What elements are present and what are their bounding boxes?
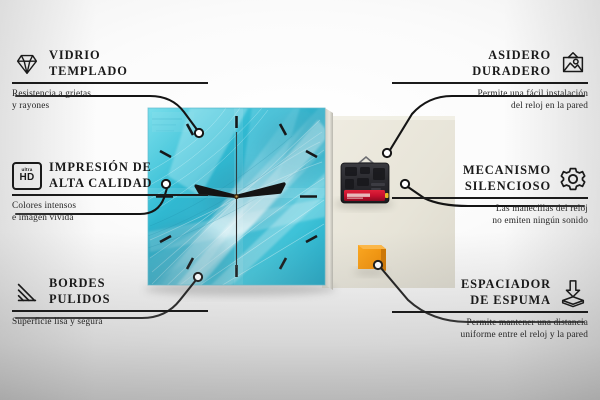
feature-vidrio-templado: VIDRIO TEMPLADO Resistencia a grietas y … [12,48,208,113]
ultra-hd-icon: ultra HD [12,161,42,191]
infographic-canvas: VIDRIO TEMPLADO Resistencia a grietas y … [0,0,600,400]
node-vidrio [195,129,203,137]
feature-header: ASIDERO DURADERO [392,48,588,79]
feature-title: ASIDERO DURADERO [472,48,551,79]
feature-impresion-alta-calidad: ultra HD IMPRESIÓN DE ALTA CALIDAD Color… [12,160,208,225]
feature-header: ultra HD IMPRESIÓN DE ALTA CALIDAD [12,160,208,191]
divider [392,197,588,199]
feature-title: IMPRESIÓN DE ALTA CALIDAD [49,160,152,191]
feature-description: Colores intensos e imagen vívida [12,200,208,225]
feature-title: ESPACIADOR DE ESPUMA [461,277,551,308]
feature-asidero-duradero: ASIDERO DURADERO Permite una fácil insta… [392,48,588,113]
feature-header: MECANISMO SILENCIOSO [392,163,588,194]
feature-header: ESPACIADOR DE ESPUMA [392,277,588,308]
feature-description: Superficie lisa y segura [12,316,208,329]
divider [12,310,208,312]
divider [12,194,208,196]
arrow-press-pad-icon [558,278,588,308]
feature-title: BORDES PULIDOS [49,276,110,307]
node-espaciador [374,261,382,269]
feature-description: Resistencia a grietas y rayones [12,88,208,113]
node-asidero [383,149,391,157]
divider [12,82,208,84]
hanging-picture-icon [558,49,588,79]
feature-title: MECANISMO SILENCIOSO [463,163,551,194]
feature-title: VIDRIO TEMPLADO [49,48,128,79]
feature-header: BORDES PULIDOS [12,276,208,307]
feature-mecanismo-silencioso: MECANISMO SILENCIOSO Las manecillas del … [392,163,588,228]
feature-description: Permite mantener una distancia uniforme … [392,317,588,342]
ultra-hd-icon-main-label: HD [19,173,34,183]
diamond-icon [12,49,42,79]
divider [392,82,588,84]
divider [392,311,588,313]
feature-description: Las manecillas del reloj no emiten ningú… [392,203,588,228]
feature-description: Permite una fácil instalación del reloj … [392,88,588,113]
gear-icon [558,164,588,194]
feature-espaciador-espuma: ESPACIADOR DE ESPUMA Permite mantener un… [392,277,588,342]
polished-edge-icon [12,277,42,307]
feature-bordes-pulidos: BORDES PULIDOS Superficie lisa y segura [12,276,208,328]
feature-header: VIDRIO TEMPLADO [12,48,208,79]
